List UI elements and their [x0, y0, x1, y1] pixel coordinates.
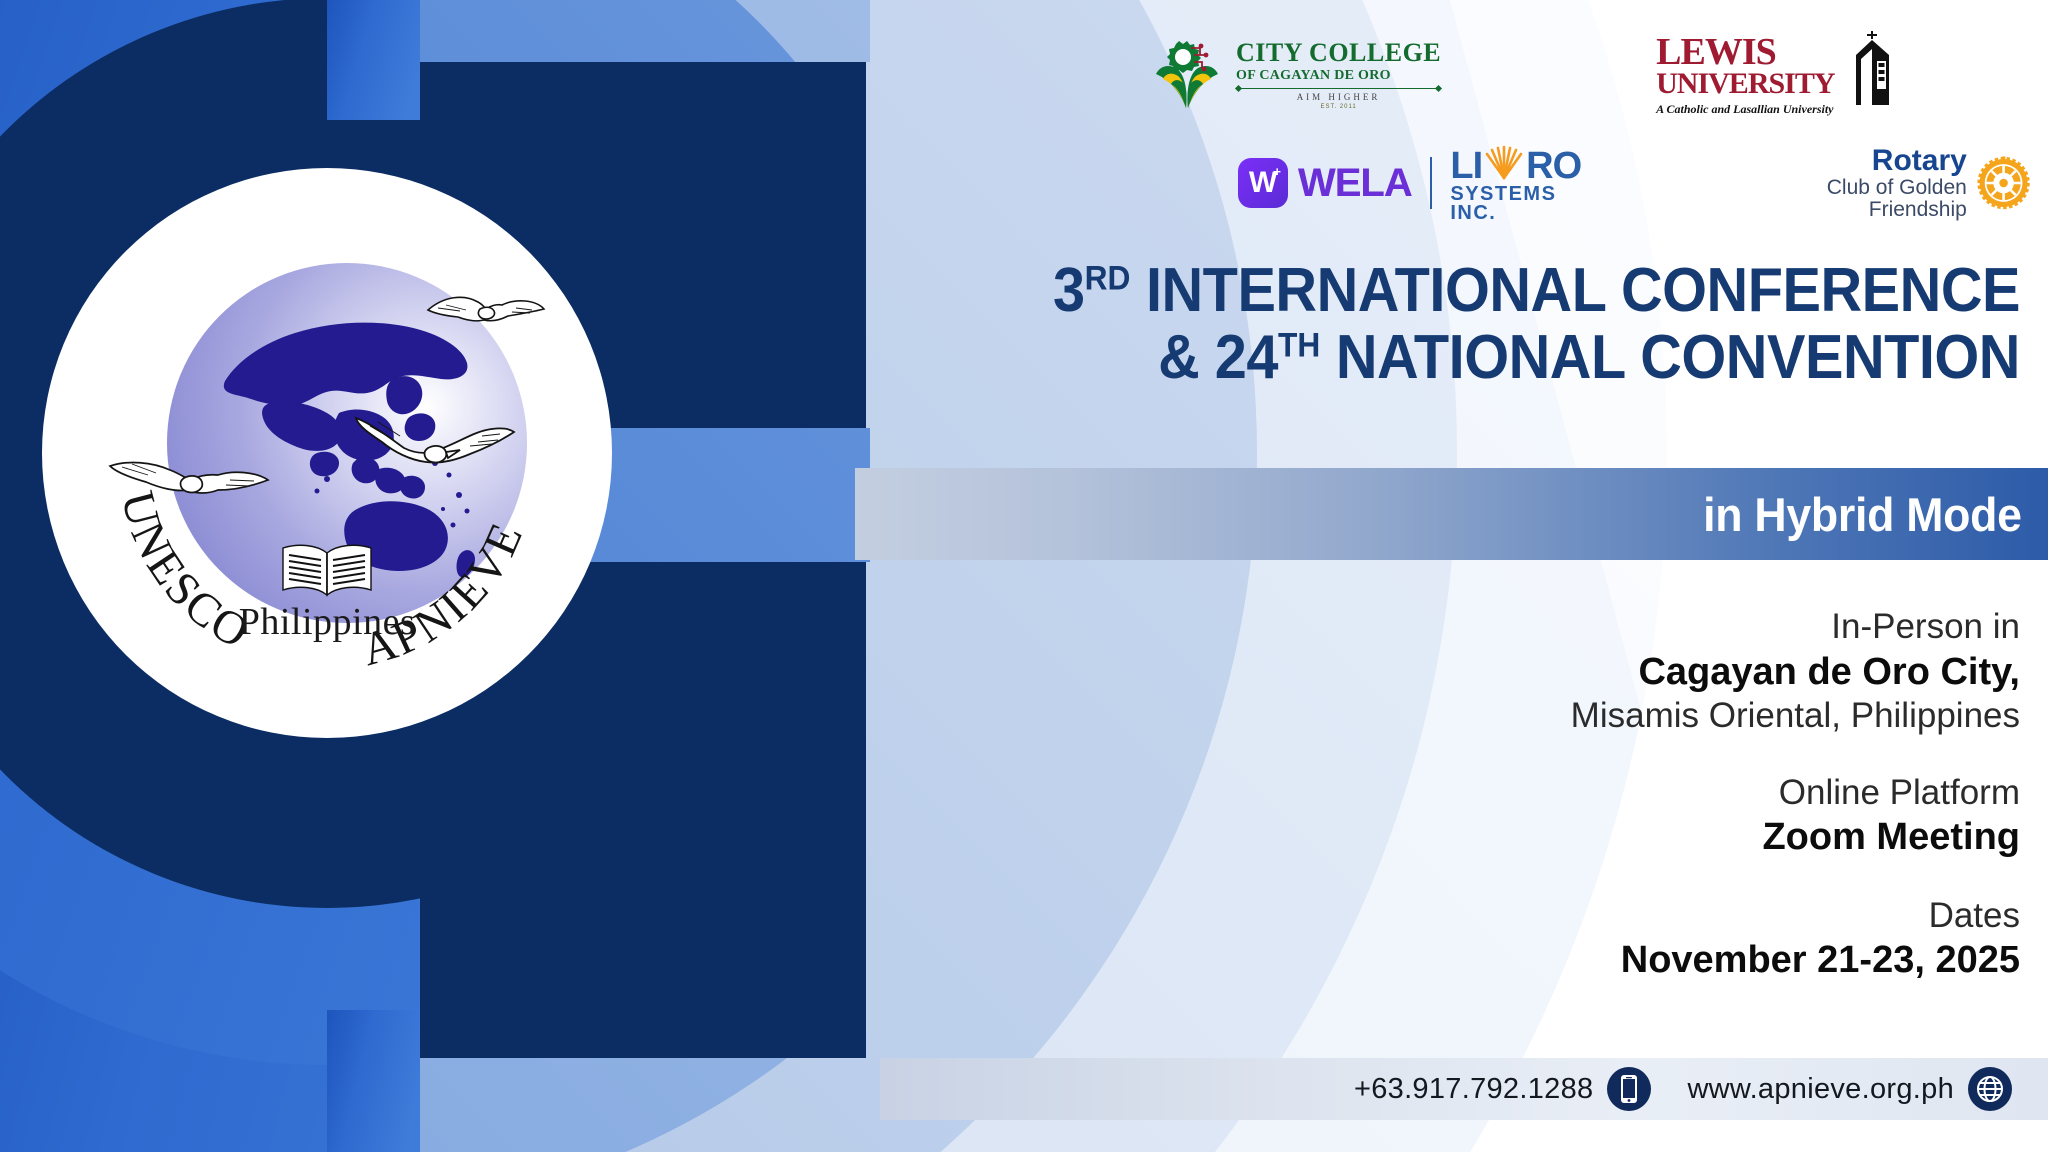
dates-value: November 21-23, 2025	[1120, 937, 2020, 983]
contact-phone[interactable]: +63.917.792.1288	[1354, 1067, 1651, 1111]
gear-book-circuit-mark	[1150, 38, 1224, 112]
logo-row-1: CITY COLLEGE OF CAGAYAN DE ORO AIM HIGHE…	[1150, 20, 2030, 130]
wela-badge-icon: W +	[1238, 158, 1288, 208]
bell-tower-icon	[1841, 29, 1897, 115]
ccco-est: EST. 2011	[1236, 104, 1441, 110]
platform-value: Zoom Meeting	[1120, 814, 2020, 860]
contact-footer: +63.917.792.1288 www.apnieve.org.ph	[880, 1058, 2048, 1120]
platform-label: Online Platform	[1120, 772, 2020, 815]
lewis-tagline: A Catholic and Lasallian University	[1656, 104, 1834, 115]
website-url: www.apnieve.org.ph	[1687, 1073, 1954, 1106]
apnieve-emblem: UNESCO APNIEVE Philippines	[42, 168, 612, 738]
livro-name-b: RO	[1526, 148, 1581, 184]
title-line1-ordinal: RD	[1085, 259, 1131, 297]
hybrid-mode-label: in Hybrid Mode	[1703, 487, 2048, 542]
dove-icon-middle-right	[342, 390, 522, 490]
sponsor-logos: CITY COLLEGE OF CAGAYAN DE ORO AIM HIGHE…	[1150, 20, 2030, 226]
title-line2-prefix: & 24	[1158, 323, 1278, 392]
rotary-name: Rotary	[1758, 145, 1967, 177]
logo-lewis-university: LEWIS UNIVERSITY A Catholic and Lasallia…	[1656, 35, 1896, 116]
lewis-line1: LEWIS	[1656, 35, 1834, 70]
title-line1-prefix: 3	[1053, 256, 1085, 325]
rotary-club-name: Club of Golden Friendship	[1758, 177, 1967, 221]
rotary-gear-wheel-icon	[1977, 152, 2030, 214]
logo-divider	[1430, 157, 1433, 209]
venue-city: Cagayan de Oro City,	[1120, 649, 2020, 695]
sunburst-v-icon	[1483, 144, 1525, 182]
venue-label: In-Person in	[1120, 606, 2020, 649]
logo-wela: W + WELA	[1238, 158, 1412, 208]
svg-text:APNIEVE: APNIEVE	[356, 514, 533, 676]
dove-icon-upper-right	[420, 276, 550, 346]
globe-icon	[1968, 1067, 2012, 1111]
arc-text-apnieve: APNIEVE	[356, 514, 533, 676]
livro-sub: SYSTEMS INC.	[1450, 185, 1587, 223]
mobile-phone-icon	[1607, 1067, 1651, 1111]
emblem-bottom-label: Philippines	[42, 600, 612, 644]
logo-livro-systems: LI RO SYSTEMS INC.	[1450, 144, 1587, 223]
logo-rotary-club: Rotary Club of Golden Friendship	[1758, 145, 2030, 221]
ccco-name: CITY COLLEGE	[1236, 40, 1441, 66]
detail-dates: Dates November 21-23, 2025	[1120, 895, 2020, 984]
title-line-2: & 24TH NATIONAL CONVENTION	[792, 325, 2020, 392]
dove-icon-lower-left	[104, 440, 274, 520]
phone-number: +63.917.792.1288	[1354, 1073, 1593, 1106]
contact-website[interactable]: www.apnieve.org.ph	[1687, 1067, 2012, 1111]
detail-venue: In-Person in Cagayan de Oro City, Misami…	[1120, 606, 2020, 738]
wela-badge-plus: +	[1273, 164, 1281, 179]
venue-region: Misamis Oriental, Philippines	[1120, 695, 2020, 738]
open-book-icon	[277, 540, 377, 602]
page-title: 3RD INTERNATIONAL CONFERENCE & 24TH NATI…	[700, 258, 2020, 392]
ccco-sub: OF CAGAYAN DE ORO	[1236, 69, 1441, 83]
dates-label: Dates	[1120, 895, 2020, 938]
event-details: In-Person in Cagayan de Oro City, Misami…	[1120, 606, 2020, 984]
detail-platform: Online Platform Zoom Meeting	[1120, 772, 2020, 861]
hybrid-mode-banner: in Hybrid Mode	[855, 468, 2048, 560]
banner-canvas: UNESCO APNIEVE Philippines	[0, 0, 2048, 1152]
title-line-1: 3RD INTERNATIONAL CONFERENCE	[792, 258, 2020, 325]
ccco-divider	[1236, 88, 1441, 89]
title-line1-rest: INTERNATIONAL CONFERENCE	[1130, 256, 2020, 325]
logo-city-college-of-cagayan-de-oro: CITY COLLEGE OF CAGAYAN DE ORO AIM HIGHE…	[1150, 38, 1441, 112]
livro-name-a: LI	[1450, 148, 1482, 184]
wela-wordmark: WELA	[1298, 161, 1412, 206]
logo-row-2: W + WELA LI	[1150, 140, 2030, 226]
ccco-tagline: AIM HIGHER	[1236, 93, 1441, 102]
lewis-line2: UNIVERSITY	[1656, 70, 1834, 98]
title-line2-ordinal: TH	[1278, 326, 1320, 364]
title-line2-rest: NATIONAL CONVENTION	[1320, 323, 2020, 392]
